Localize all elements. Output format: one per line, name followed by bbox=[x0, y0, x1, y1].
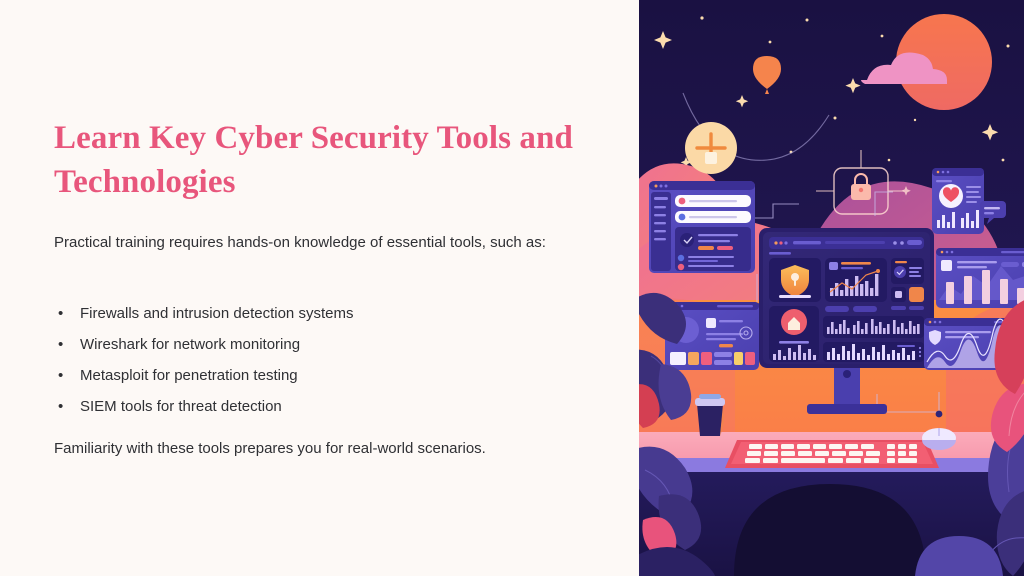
star-dot bbox=[769, 41, 772, 44]
monitor-dashboard bbox=[759, 228, 934, 368]
tools-bullet-list: • Firewalls and intrusion detection syst… bbox=[54, 298, 594, 422]
star-dot bbox=[1007, 45, 1010, 48]
shield-lock-widget bbox=[769, 258, 821, 302]
list-item: • Wireshark for network monitoring bbox=[54, 329, 594, 360]
bullet-marker-icon: • bbox=[58, 360, 63, 391]
coffee-cup bbox=[695, 394, 725, 436]
bullet-marker-icon: • bbox=[58, 329, 63, 360]
list-item: • SIEM tools for threat detection bbox=[54, 391, 594, 422]
list-item: • Metasploit for penetration testing bbox=[54, 360, 594, 391]
page-title: Learn Key Cyber Security Tools and Techn… bbox=[54, 116, 614, 204]
text-column: Learn Key Cyber Security Tools and Techn… bbox=[0, 0, 639, 576]
bullet-marker-icon: • bbox=[58, 298, 63, 329]
star-dot bbox=[834, 117, 837, 120]
list-item-label: Wireshark for network monitoring bbox=[80, 336, 300, 353]
star-dot bbox=[914, 119, 916, 121]
bar-chart-widget bbox=[825, 258, 887, 302]
list-item-label: SIEM tools for threat detection bbox=[80, 398, 282, 415]
floating-browser-window bbox=[649, 181, 755, 273]
mouse bbox=[922, 428, 956, 450]
star-dot bbox=[881, 35, 884, 38]
list-item-label: Metasploit for penetration testing bbox=[80, 367, 298, 384]
slide-root: Learn Key Cyber Security Tools and Techn… bbox=[0, 0, 1024, 576]
bar-chart-card bbox=[936, 248, 1024, 308]
illustration-panel bbox=[639, 0, 1024, 576]
wide-bar-chart-top bbox=[823, 316, 924, 338]
info-panel bbox=[891, 258, 924, 284]
alert-home-widget bbox=[769, 306, 819, 362]
list-item-label: Firewalls and intrusion detection system… bbox=[80, 305, 353, 322]
closing-paragraph: Familiarity with these tools prepares yo… bbox=[54, 437, 614, 461]
star-dot bbox=[1002, 159, 1005, 162]
star-dot bbox=[700, 16, 703, 19]
heart-stats-card bbox=[932, 168, 984, 234]
keyboard bbox=[725, 440, 939, 468]
cyber-desk-illustration bbox=[639, 0, 1024, 576]
list-item: • Firewalls and intrusion detection syst… bbox=[54, 298, 594, 329]
connector-node bbox=[936, 411, 943, 418]
plus-badge-circle bbox=[685, 122, 737, 174]
wide-bar-chart-bottom bbox=[823, 342, 924, 362]
bullet-marker-icon: • bbox=[58, 391, 63, 422]
star-dot bbox=[806, 19, 809, 22]
star-dot bbox=[888, 159, 891, 162]
intro-paragraph: Practical training requires hands-on kno… bbox=[54, 229, 589, 256]
